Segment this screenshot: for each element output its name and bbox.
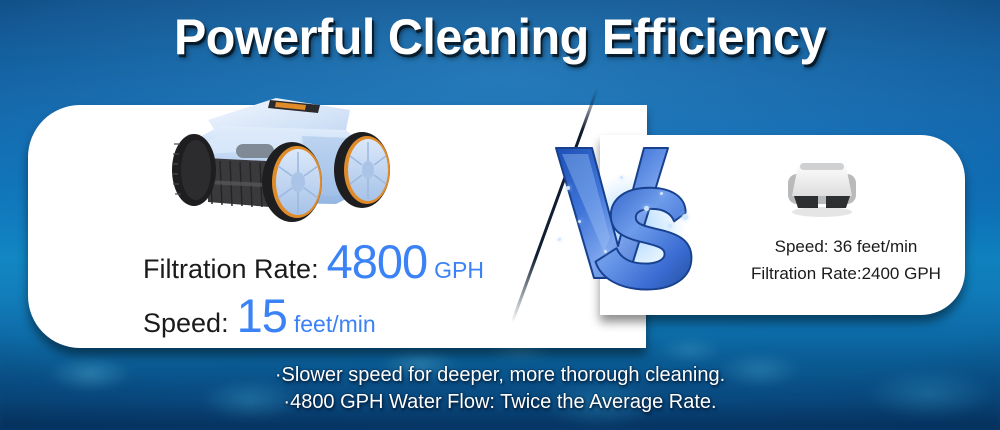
- versus-logo: [548, 128, 718, 318]
- page-title: Powerful Cleaning Efficiency: [15, 6, 985, 68]
- competitor-device-image: [772, 158, 872, 220]
- pool-robot-image: [150, 86, 400, 226]
- promo-banner: Powerful Cleaning Efficiency: [0, 0, 1000, 430]
- spec-value: 4800: [327, 238, 428, 285]
- bullet-item: ·Slower speed for deeper, more thorough …: [0, 362, 1000, 389]
- product-specs: Filtration Rate: 4800 GPH Speed: 15 feet…: [143, 238, 573, 339]
- spec-label: Filtration Rate:: [143, 254, 319, 285]
- spec-value: 15: [237, 292, 287, 339]
- bullet-item: ·4800 GPH Water Flow: Twice the Average …: [0, 389, 1000, 416]
- spec-unit: feet/min: [294, 311, 376, 338]
- spec-row-speed: Speed: 15 feet/min: [143, 292, 573, 339]
- competitor-spec-speed: Speed: 36 feet/min: [700, 233, 992, 260]
- spec-row-filtration: Filtration Rate: 4800 GPH: [143, 238, 573, 285]
- spec-unit: GPH: [434, 257, 484, 284]
- benefit-bullets: ·Slower speed for deeper, more thorough …: [0, 362, 1000, 416]
- spec-label: Speed:: [143, 308, 229, 339]
- competitor-specs: Speed: 36 feet/min Filtration Rate:2400 …: [700, 233, 992, 287]
- competitor-spec-filtration: Filtration Rate:2400 GPH: [700, 260, 992, 287]
